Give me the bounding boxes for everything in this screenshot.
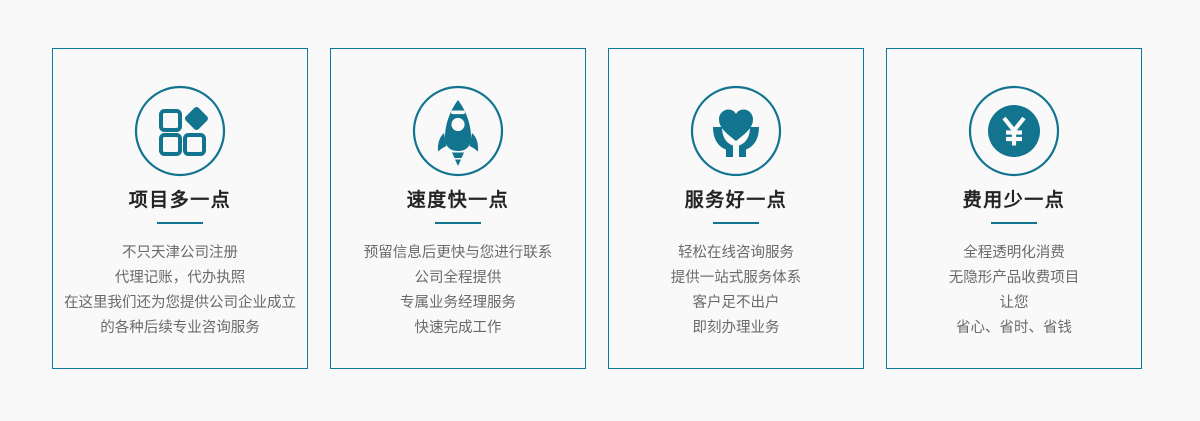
title-divider — [435, 222, 481, 224]
desc-line: 省心、省时、省钱 — [949, 316, 1080, 341]
card-title: 项目多一点 — [129, 190, 232, 213]
desc-line: 不只天津公司注册 — [64, 241, 296, 266]
desc-line: 代理记账，代办执照 — [64, 266, 296, 291]
card-description: 轻松在线咨询服务 提供一站式服务体系 客户足不出户 即刻办理业务 — [663, 241, 810, 341]
desc-line: 专属业务经理服务 — [364, 291, 553, 316]
card-description: 不只天津公司注册 代理记账，代办执照 在这里我们还为您提供公司企业成立 的各种后… — [56, 241, 304, 341]
title-divider — [991, 222, 1037, 224]
card-title: 服务好一点 — [685, 190, 788, 213]
feature-card-projects[interactable]: 项目多一点 不只天津公司注册 代理记账，代办执照 在这里我们还为您提供公司企业成… — [52, 48, 308, 369]
feature-card-service[interactable]: 服务好一点 轻松在线咨询服务 提供一站式服务体系 客户足不出户 即刻办理业务 — [608, 48, 864, 369]
desc-line: 预留信息后更快与您进行联系 — [364, 241, 553, 266]
desc-line: 提供一站式服务体系 — [671, 266, 802, 291]
heart-hands-icon — [690, 85, 782, 177]
title-divider — [713, 222, 759, 224]
desc-line: 快速完成工作 — [364, 316, 553, 341]
title-divider — [157, 222, 203, 224]
desc-line: 轻松在线咨询服务 — [671, 241, 802, 266]
desc-line: 客户足不出户 — [671, 291, 802, 316]
feature-card-speed[interactable]: 速度快一点 预留信息后更快与您进行联系 公司全程提供 专属业务经理服务 快速完成… — [330, 48, 586, 369]
desc-line: 在这里我们还为您提供公司企业成立 — [64, 291, 296, 316]
feature-cards-row: 项目多一点 不只天津公司注册 代理记账，代办执照 在这里我们还为您提供公司企业成… — [52, 48, 1142, 369]
feature-card-cost[interactable]: 费用少一点 全程透明化消费 无隐形产品收费项目 让您 省心、省时、省钱 — [886, 48, 1142, 369]
desc-line: 全程透明化消费 — [949, 241, 1080, 266]
desc-line: 公司全程提供 — [364, 266, 553, 291]
desc-line: 让您 — [949, 291, 1080, 316]
card-title: 费用少一点 — [963, 190, 1066, 213]
desc-line: 即刻办理业务 — [671, 316, 802, 341]
card-description: 预留信息后更快与您进行联系 公司全程提供 专属业务经理服务 快速完成工作 — [356, 241, 561, 341]
four-blocks-icon — [134, 85, 226, 177]
card-title: 速度快一点 — [407, 190, 510, 213]
desc-line: 无隐形产品收费项目 — [949, 266, 1080, 291]
rocket-icon — [412, 85, 504, 177]
card-description: 全程透明化消费 无隐形产品收费项目 让您 省心、省时、省钱 — [941, 241, 1088, 341]
desc-line: 的各种后续专业咨询服务 — [64, 316, 296, 341]
yen-circle-icon — [968, 85, 1060, 177]
